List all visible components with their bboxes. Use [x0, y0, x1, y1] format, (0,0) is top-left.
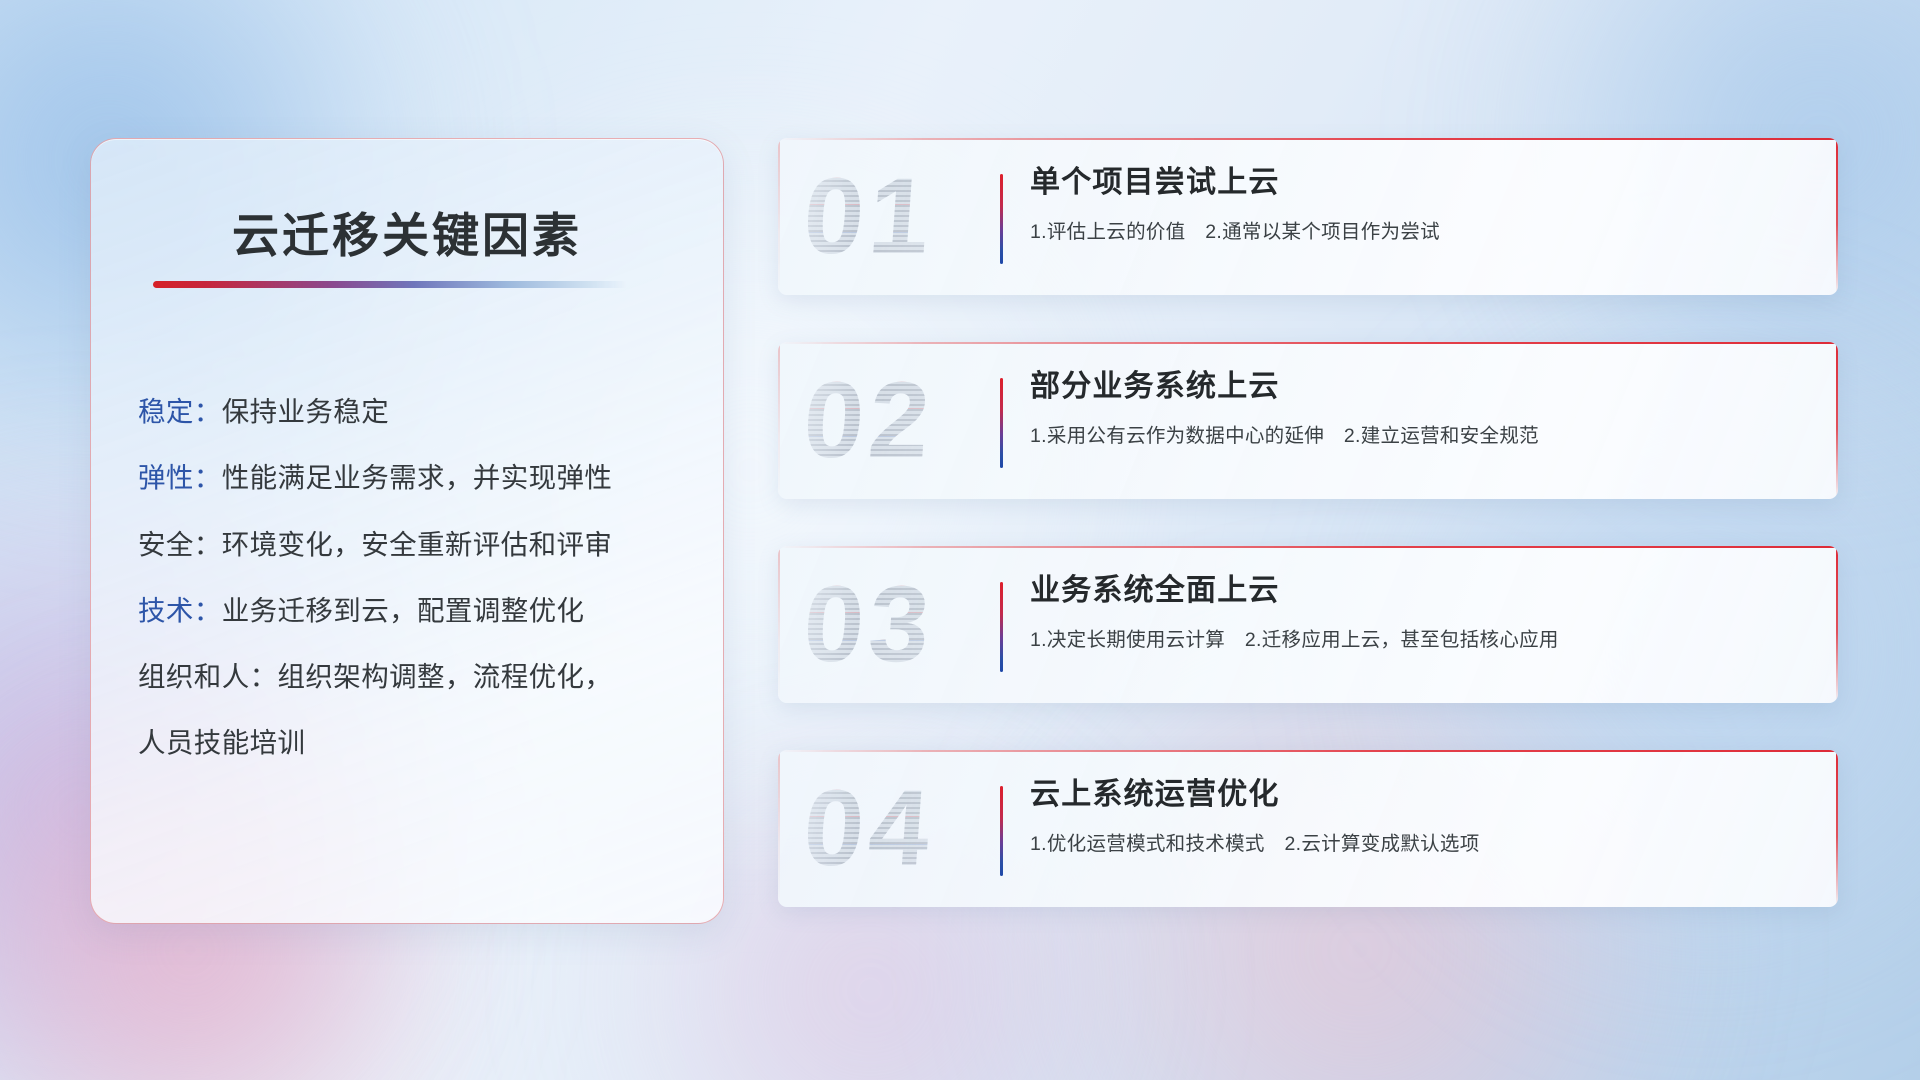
- card-right-accent: [1836, 342, 1838, 499]
- card-top-accent: [778, 342, 1838, 344]
- stage-title: 单个项目尝试上云: [1030, 164, 1814, 202]
- card-left-accent: [778, 750, 780, 907]
- title-underline-bar: [153, 281, 627, 288]
- stage-card[interactable]: 02 部分业务系统上云 1.采用公有云作为数据中心的延伸 2.建立运营和安全规范: [778, 342, 1838, 499]
- stage-accent-bar: [1000, 582, 1003, 672]
- card-right-accent: [1836, 750, 1838, 907]
- factor-label: 安全：: [138, 529, 222, 560]
- stage-number-glyph: 02: [799, 354, 998, 486]
- factor-value: 保持业务稳定: [222, 396, 389, 427]
- stage-subtitle: 1.评估上云的价值 2.通常以某个项目作为尝试: [1030, 215, 1814, 244]
- card-top-accent: [778, 138, 1838, 140]
- factor-value: 组织架构调整，流程优化，: [278, 661, 613, 692]
- stage-card-body: 部分业务系统上云 1.采用公有云作为数据中心的延伸 2.建立运营和安全规范: [1030, 368, 1814, 448]
- stage-accent-bar: [1000, 378, 1003, 468]
- factor-value: 环境变化，安全重新评估和评审: [222, 529, 613, 560]
- stage-card-body: 业务系统全面上云 1.决定长期使用云计算 2.迁移应用上云，甚至包括核心应用: [1030, 572, 1814, 652]
- factor-label: 技术：: [138, 595, 222, 626]
- factor-row: 弹性：性能满足业务需求，并实现弹性: [138, 463, 693, 493]
- stage-card[interactable]: 04 云上系统运营优化 1.优化运营模式和技术模式 2.云计算变成默认选项: [778, 750, 1838, 907]
- factor-label: 弹性：: [138, 462, 222, 493]
- stage-title: 部分业务系统上云: [1030, 368, 1814, 406]
- stage-subtitle: 1.决定长期使用云计算 2.迁移应用上云，甚至包括核心应用: [1030, 623, 1814, 652]
- card-right-accent: [1836, 138, 1838, 295]
- factor-value: 业务迁移到云，配置调整优化: [222, 595, 585, 626]
- factor-row: 稳定：保持业务稳定: [138, 397, 693, 427]
- stage-accent-bar: [1000, 786, 1003, 876]
- panel-title: 云迁移关键因素: [91, 197, 723, 266]
- stage-card-list: 01 单个项目尝试上云 1.评估上云的价值 2.通常以某个项目作为尝试 02 部…: [778, 138, 1838, 907]
- stage-accent-bar: [1000, 174, 1003, 264]
- factor-label: 组织和人：: [138, 661, 278, 692]
- stage-number-glyph: 01: [799, 150, 998, 282]
- card-top-accent: [778, 750, 1838, 752]
- stage-subtitle: 1.优化运营模式和技术模式 2.云计算变成默认选项: [1030, 827, 1814, 856]
- stage-subtitle: 1.采用公有云作为数据中心的延伸 2.建立运营和安全规范: [1030, 419, 1814, 448]
- stage-card-body: 云上系统运营优化 1.优化运营模式和技术模式 2.云计算变成默认选项: [1030, 776, 1814, 856]
- factor-row: 组织和人：组织架构调整，流程优化，: [138, 662, 693, 692]
- factor-value: 性能满足业务需求，并实现弹性: [222, 462, 613, 493]
- factor-row: 安全：环境变化，安全重新评估和评审: [138, 530, 693, 560]
- card-top-accent: [778, 546, 1838, 548]
- card-right-accent: [1836, 546, 1838, 703]
- factor-row: 技术：业务迁移到云，配置调整优化: [138, 596, 693, 626]
- factor-value: 人员技能培训: [138, 727, 305, 758]
- stage-title: 云上系统运营优化: [1030, 776, 1814, 814]
- factor-label: 稳定：: [138, 396, 222, 427]
- factor-row: 人员技能培训: [138, 728, 693, 758]
- card-left-accent: [778, 342, 780, 499]
- slide-stage: 云迁移关键因素 稳定：保持业务稳定 弹性：性能满足业务需求，并实现弹性 安全：环…: [0, 0, 1920, 1080]
- key-factors-panel: 云迁移关键因素 稳定：保持业务稳定 弹性：性能满足业务需求，并实现弹性 安全：环…: [90, 138, 724, 924]
- stage-number-glyph: 03: [799, 558, 998, 690]
- stage-card[interactable]: 01 单个项目尝试上云 1.评估上云的价值 2.通常以某个项目作为尝试: [778, 138, 1838, 295]
- stage-card[interactable]: 03 业务系统全面上云 1.决定长期使用云计算 2.迁移应用上云，甚至包括核心应…: [778, 546, 1838, 703]
- stage-card-body: 单个项目尝试上云 1.评估上云的价值 2.通常以某个项目作为尝试: [1030, 164, 1814, 244]
- stage-number-glyph: 04: [799, 762, 998, 894]
- factor-list: 稳定：保持业务稳定 弹性：性能满足业务需求，并实现弹性 安全：环境变化，安全重新…: [138, 397, 693, 759]
- stage-title: 业务系统全面上云: [1030, 572, 1814, 610]
- card-left-accent: [778, 138, 780, 295]
- card-left-accent: [778, 546, 780, 703]
